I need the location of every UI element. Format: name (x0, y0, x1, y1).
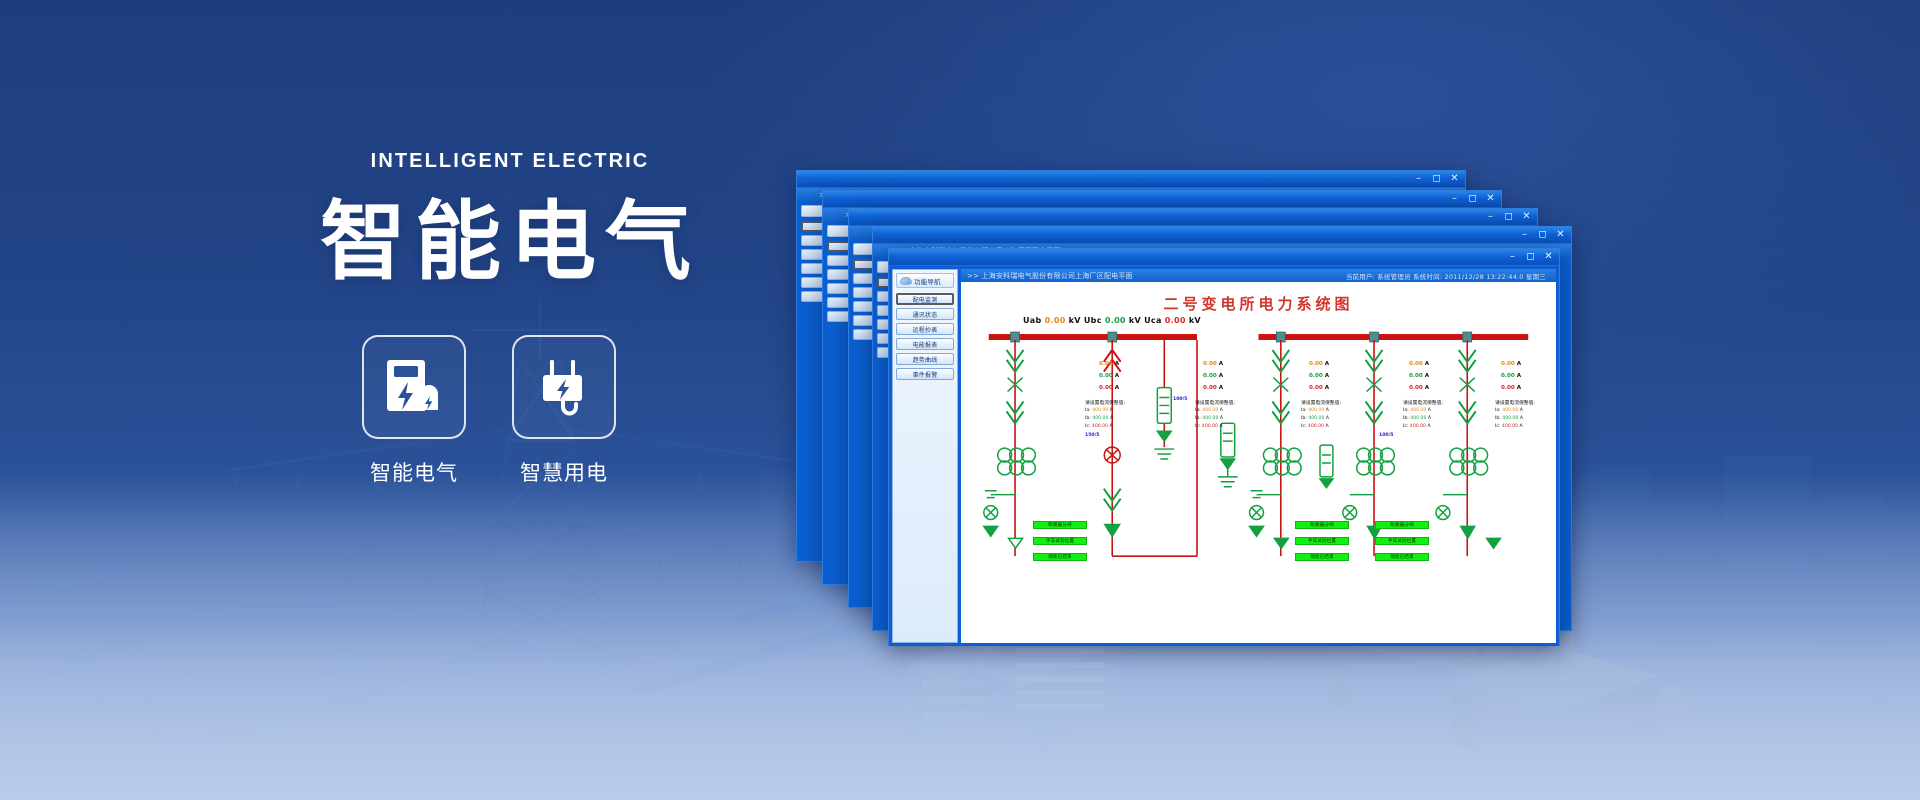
protection-row: Ib: 400.00 A (1195, 416, 1223, 421)
window-titlebar[interactable]: – ◻ ✕ (797, 171, 1465, 188)
status-button-trolley[interactable]: 手车试验位置 (1375, 537, 1429, 545)
protection-row: Ia: 400.00 A (1301, 408, 1329, 413)
current-reading: 0.00 A (1501, 361, 1521, 367)
close-button[interactable]: ✕ (1553, 228, 1568, 241)
protection-row: Ic: 400.00 A (1085, 424, 1113, 429)
window-controls[interactable]: – ◻ ✕ (1483, 210, 1534, 223)
diagram-canvas: >> 上海安科瑞电气股份有限公司上海厂区配电平面 当前用户: 系统管理员 系统时… (961, 269, 1556, 643)
navigation-logo-icon (900, 277, 912, 285)
feeder-1 (984, 340, 1036, 556)
current-reading: 0.00 A (1409, 361, 1429, 367)
protection-row: Ia: 400.00 A (1195, 408, 1223, 413)
window-titlebar[interactable]: – ◻ ✕ (873, 227, 1571, 244)
window-controls[interactable]: – ◻ ✕ (1505, 250, 1556, 263)
current-reading: 0.00 A (1409, 373, 1429, 379)
window-status: 当前用户: 系统管理员 系统时间: 2011/12/28 13:22:44.0 … (1346, 271, 1546, 281)
uab-label: Uab (1023, 316, 1042, 325)
minimize-button[interactable]: – (1505, 250, 1520, 263)
busbar-left (989, 334, 1197, 340)
sidebar: 功能导航 配电监测 通讯状态 远程抄表 电能报表 趋势曲线 事件报警 (892, 269, 958, 643)
protection-row: Ic: 400.00 A (1403, 424, 1431, 429)
window-body: 功能导航 配电监测 通讯状态 远程抄表 电能报表 趋势曲线 事件报警 >> 上海… (889, 266, 1559, 646)
uab-value: 0.00 (1045, 316, 1066, 325)
status-button-energy-storage[interactable]: 储能已结束 (1375, 553, 1429, 561)
current-reading: 0.00 A (1309, 361, 1329, 367)
protection-title: 请设置电流保整值: (1403, 399, 1443, 406)
single-line-diagram (961, 327, 1556, 587)
current-reading: 0.00 A (1099, 361, 1119, 367)
current-reading: 0.00 A (1309, 385, 1329, 391)
maximize-button[interactable]: ◻ (1429, 172, 1444, 185)
canvas-status-bar: >> 上海安科瑞电气股份有限公司上海厂区配电平面 当前用户: 系统管理员 系统时… (961, 269, 1556, 282)
feeder-3 (1250, 340, 1302, 556)
protection-title: 请设置电流保整值: (1495, 399, 1535, 406)
application-window-stack: – ◻ ✕ >> 上海安科瑞电气股份有限公司上海厂区配电平面 当前用户: 系统管… (0, 0, 1920, 800)
nav-header-label: 功能导航 (914, 276, 941, 286)
window-titlebar[interactable]: – ◻ ✕ (823, 191, 1501, 208)
bus-tie (1154, 340, 1174, 459)
minimize-button[interactable]: – (1411, 172, 1426, 185)
status-button-breaker[interactable]: 断路器分闸 (1033, 521, 1087, 529)
ct-ratio: 100/5 (1379, 433, 1393, 438)
close-button[interactable]: ✕ (1541, 250, 1556, 263)
status-button-breaker[interactable]: 断路器分闸 (1295, 521, 1349, 529)
feeder-5 (1436, 340, 1500, 556)
minimize-button[interactable]: – (1447, 192, 1462, 205)
sidebar-item-event-alarm[interactable]: 事件报警 (896, 368, 954, 380)
current-reading: 0.00 A (1203, 373, 1223, 379)
maximize-button[interactable]: ◻ (1501, 210, 1516, 223)
status-button-energy-storage[interactable]: 储能已结束 (1033, 553, 1087, 561)
minimize-button[interactable]: – (1483, 210, 1498, 223)
surge-arrester (1218, 423, 1238, 486)
ubc-unit: kV (1129, 316, 1141, 325)
current-reading: 0.00 A (1099, 385, 1119, 391)
ubc-label: Ubc (1084, 316, 1102, 325)
sidebar-item-energy-report[interactable]: 电能报表 (896, 338, 954, 350)
sidebar-item-remote-meter-reading[interactable]: 远程抄表 (896, 323, 954, 335)
close-button[interactable]: ✕ (1483, 192, 1498, 205)
voltage-readout: Uab 0.00 kV Ubc 0.00 kV Uca 0.00 kV (1023, 316, 1201, 325)
status-button-breaker[interactable]: 断路器分闸 (1375, 521, 1429, 529)
close-button[interactable]: ✕ (1447, 172, 1462, 185)
current-reading: 0.00 A (1203, 385, 1223, 391)
protection-title: 请设置电流保整值: (1085, 399, 1125, 406)
diagram-title: 二号变电所电力系统图 (961, 293, 1556, 314)
current-reading: 0.00 A (1309, 373, 1329, 379)
protection-title: 请设置电流保整值: (1195, 399, 1235, 406)
sidebar-item-trend-curve[interactable]: 趋势曲线 (896, 353, 954, 365)
window-controls[interactable]: – ◻ ✕ (1517, 228, 1568, 241)
window-controls[interactable]: – ◻ ✕ (1447, 192, 1498, 205)
uca-value: 0.00 (1165, 316, 1186, 325)
maximize-button[interactable]: ◻ (1465, 192, 1480, 205)
nav-header: 功能导航 (896, 273, 954, 288)
maximize-button[interactable]: ◻ (1535, 228, 1550, 241)
surge-arrester-2 (1320, 445, 1333, 488)
protection-row: Ia: 400.00 A (1085, 408, 1113, 413)
status-button-energy-storage[interactable]: 储能已结束 (1295, 553, 1349, 561)
protection-title: 请设置电流保整值: (1301, 399, 1341, 406)
protection-row: Ic: 400.00 A (1495, 424, 1523, 429)
ubc-value: 0.00 (1105, 316, 1126, 325)
window-titlebar[interactable]: – ◻ ✕ (889, 249, 1559, 266)
protection-row: Ia: 400.00 A (1403, 408, 1431, 413)
maximize-button[interactable]: ◻ (1523, 250, 1538, 263)
uca-unit: kV (1189, 316, 1201, 325)
protection-row: Ib: 400.00 A (1085, 416, 1113, 421)
protection-row: Ib: 400.00 A (1495, 416, 1523, 421)
status-button-trolley[interactable]: 手车试验位置 (1033, 537, 1087, 545)
sidebar-item-communication-status[interactable]: 通讯状态 (896, 308, 954, 320)
uab-unit: kV (1069, 316, 1081, 325)
protection-row: Ib: 400.00 A (1301, 416, 1329, 421)
ct-ratio: 150/5 (1085, 433, 1099, 438)
minimize-button[interactable]: – (1517, 228, 1532, 241)
sidebar-item-power-monitoring[interactable]: 配电监测 (896, 293, 954, 305)
protection-row: Ia: 400.00 A (1495, 408, 1523, 413)
window-titlebar[interactable]: – ◻ ✕ (849, 209, 1537, 226)
protection-row: Ic: 400.00 A (1195, 424, 1223, 429)
window-title: >> 上海安科瑞电气股份有限公司上海厂区配电平面 (961, 271, 1133, 281)
protection-row: Ic: 400.00 A (1301, 424, 1329, 429)
active-application-window[interactable]: – ◻ ✕ 功能导航 配电监测 通讯状态 远程抄表 电能报表 趋势曲线 事件报警 (888, 248, 1560, 646)
current-reading: 0.00 A (1501, 385, 1521, 391)
current-reading: 0.00 A (1409, 385, 1429, 391)
status-button-trolley[interactable]: 手车试验位置 (1295, 537, 1349, 545)
current-reading: 0.00 A (1099, 373, 1119, 379)
busbar-right (1259, 334, 1529, 340)
ct-ratio: 100/5 (1173, 397, 1187, 402)
close-button[interactable]: ✕ (1519, 210, 1534, 223)
current-reading: 0.00 A (1203, 361, 1223, 367)
current-reading: 0.00 A (1501, 373, 1521, 379)
window-controls[interactable]: – ◻ ✕ (1411, 172, 1462, 185)
protection-row: Ib: 400.00 A (1403, 416, 1431, 421)
uca-label: Uca (1144, 316, 1162, 325)
